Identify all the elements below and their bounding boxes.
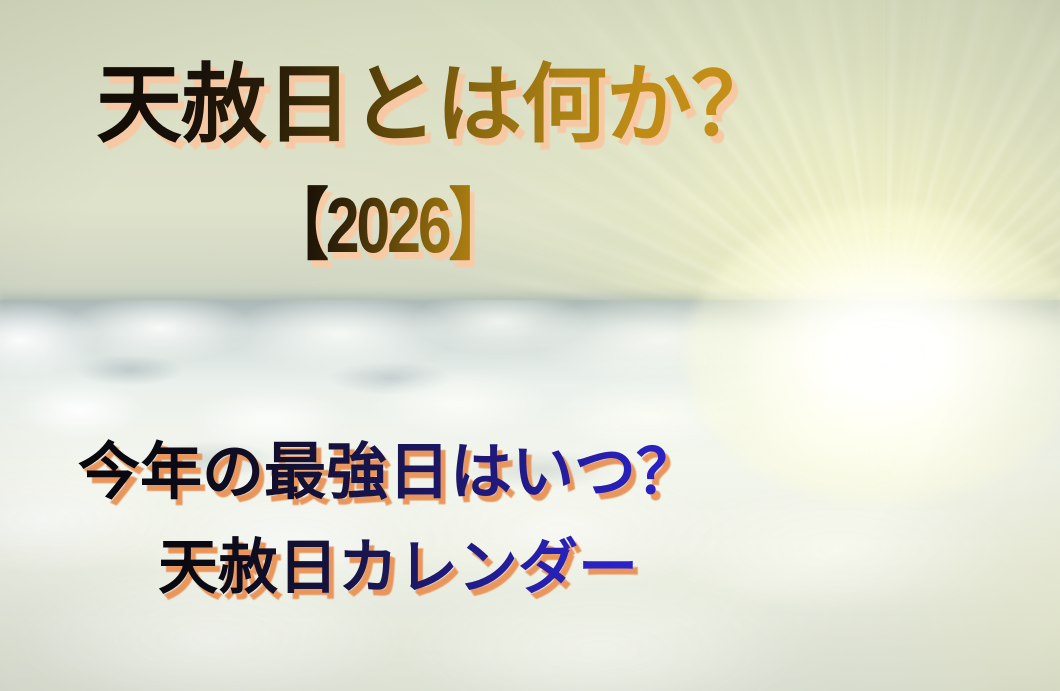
hero-banner: 天赦日とは何か？ 天赦日とは何か？ 【2026】 【2026】 今年の最強日はい… <box>0 0 1060 691</box>
banner-question: 今年の最強日はいつ？ 今年の最強日はいつ？ <box>78 442 698 504</box>
banner-question-text: 今年の最強日はいつ？ <box>78 438 698 507</box>
banner-title-text: 天赦日とは何か？ <box>96 57 776 153</box>
banner-year-text: 【2026】 <box>268 181 506 269</box>
banner-calendar-label-text: 天赦日カレンダー <box>158 534 638 601</box>
banner-calendar-label: 天赦日カレンダー 天赦日カレンダー <box>158 538 638 598</box>
banner-year: 【2026】 【2026】 <box>268 186 506 264</box>
banner-text-layer: 天赦日とは何か？ 天赦日とは何か？ 【2026】 【2026】 今年の最強日はい… <box>0 0 1060 691</box>
banner-title: 天赦日とは何か？ 天赦日とは何か？ <box>96 62 776 148</box>
